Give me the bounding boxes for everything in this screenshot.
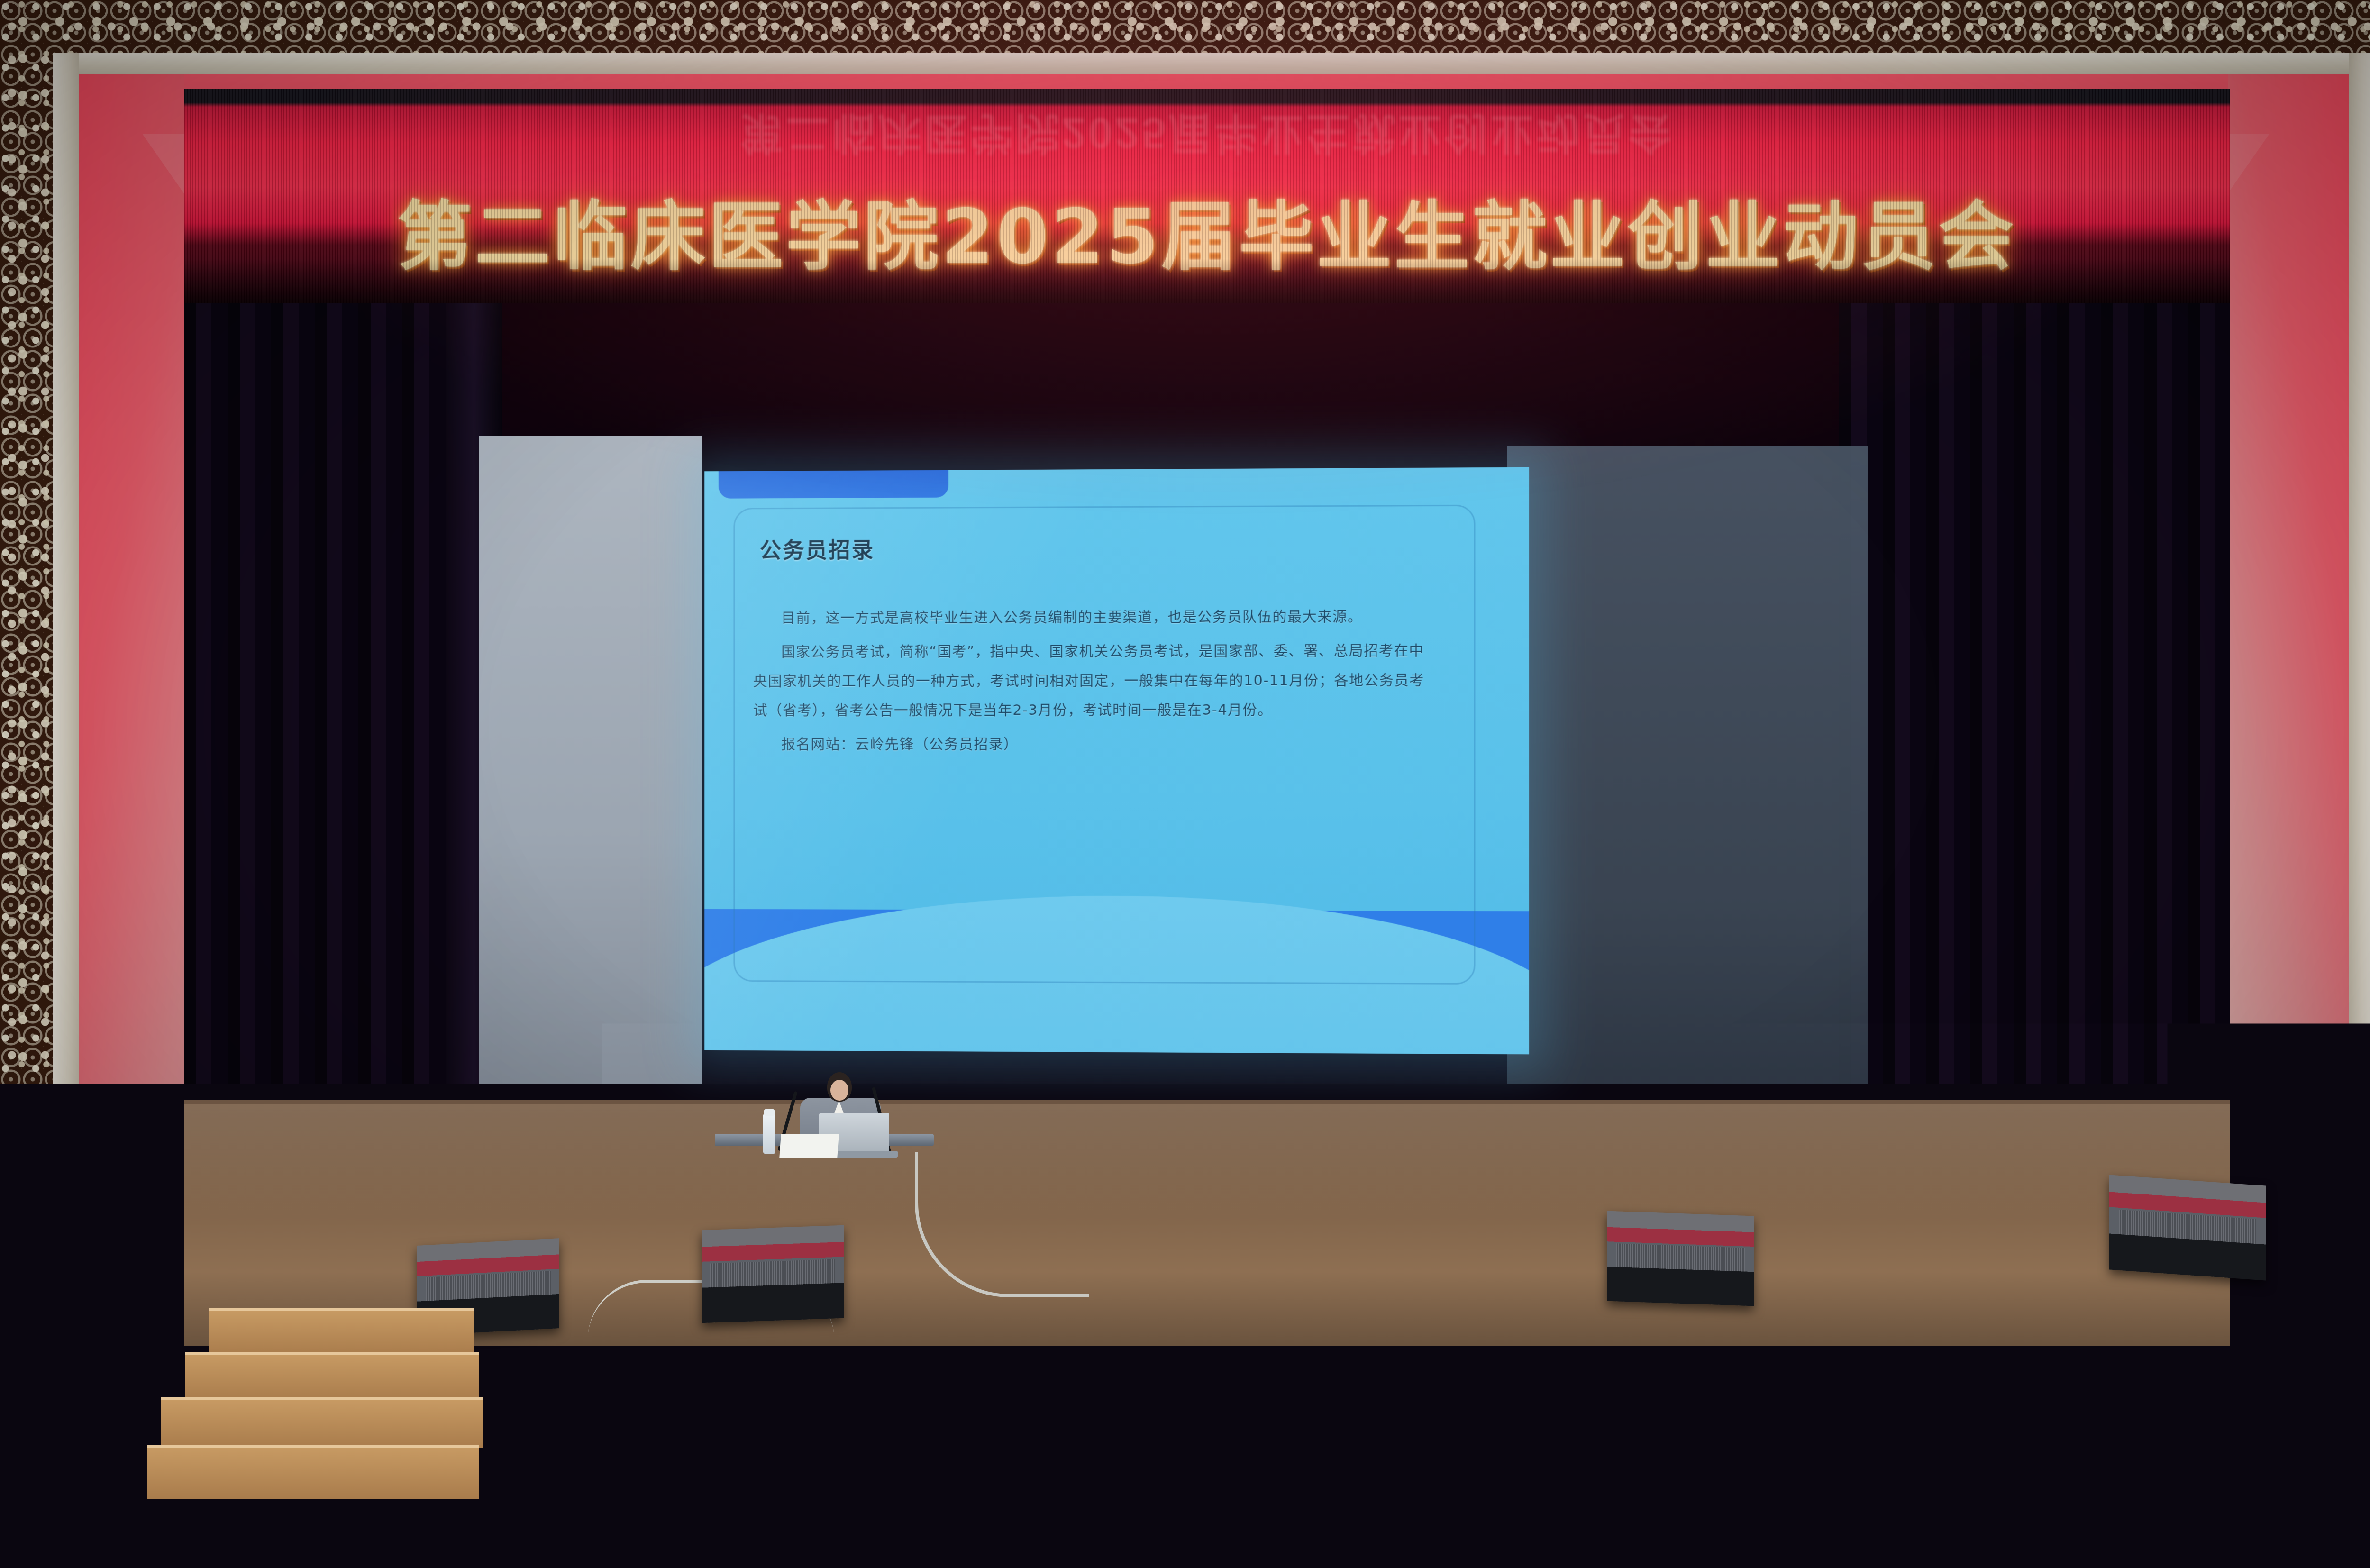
audience-person (594, 1428, 638, 1469)
audience-seat (2073, 1524, 2184, 1568)
stage-curtain-left (184, 303, 478, 1161)
audience-person (339, 1492, 390, 1540)
stage-monitor-3 (1607, 1211, 1754, 1306)
marble-trim-top (57, 53, 2370, 75)
slide-paragraph-1: 目前，这一方式是高校毕业生进入公务员编制的主要渠道，也是公务员队伍的最大来源。 (753, 602, 1425, 633)
audience-seat (1501, 1562, 1621, 1568)
monitor-grille-2 (710, 1259, 835, 1287)
audience-person (1397, 1492, 1448, 1540)
marble-trim-right (2349, 53, 2370, 1048)
audience-house (0, 1356, 2370, 1568)
audience-person (1524, 1459, 1571, 1504)
audience-seat (1603, 1524, 1714, 1568)
stage-curtain-right (1839, 303, 2230, 1161)
audience-person (1676, 1401, 1716, 1439)
slide-body: 目前，这一方式是高校毕业生进入公务员编制的主要渠道，也是公务员队伍的最大来源。 … (753, 602, 1425, 764)
slide-heading: 公务员招录 (760, 533, 875, 565)
audience-person (543, 1459, 590, 1504)
stage-floor-sheen (184, 1104, 2230, 1218)
audience-seat (230, 1562, 351, 1568)
presenter-face (830, 1080, 848, 1101)
slide-title-tab (719, 467, 948, 499)
audience-person (2048, 1401, 2088, 1439)
audience-person (2001, 1428, 2045, 1469)
audience-person (4, 1401, 44, 1439)
auditorium-stage-photo: 第二临床医学院2025届毕业生就业创业动员会 第二临床医学院2025届毕业生就业… (0, 0, 2370, 1568)
audience-person (221, 1492, 273, 1540)
audience-seat (1015, 1524, 1126, 1568)
audience-seat (2136, 1562, 2256, 1568)
audience-person (375, 1401, 416, 1439)
audience-seat (993, 1562, 1113, 1568)
audience-person (1097, 1428, 1140, 1469)
audience-person (695, 1428, 738, 1469)
audience-seat (1882, 1562, 2002, 1568)
audience-seat (357, 1562, 478, 1568)
audience-seat (738, 1562, 859, 1568)
audience-person (747, 1401, 787, 1439)
audience-person (979, 1459, 1026, 1504)
audience-person (0, 1459, 46, 1504)
proscenium-arch-right (2228, 74, 2349, 1050)
monitor-grille-3 (1616, 1244, 1745, 1272)
audience-seat (866, 1562, 986, 1568)
audience-seat (1628, 1562, 1748, 1568)
audience-seat (2191, 1524, 2302, 1568)
audience-person (1212, 1401, 1252, 1439)
arch-bevel-left (142, 134, 184, 193)
audience-seat (428, 1524, 538, 1568)
projection-screen: 公务员招录 目前，这一方式是高校毕业生进入公务员编制的主要渠道，也是公务员队伍的… (704, 467, 1529, 1055)
audience-seat (545, 1524, 656, 1568)
audience-person (809, 1492, 860, 1540)
audience-person (192, 1428, 236, 1469)
monitor-grille-1 (426, 1271, 551, 1301)
audience-seat (898, 1524, 1009, 1568)
audience-seat (2009, 1562, 2129, 1568)
monitor-grille-4 (2119, 1210, 2256, 1244)
water-bottle-cap (764, 1109, 775, 1116)
audience-person (840, 1401, 880, 1439)
papers-on-desk (779, 1134, 839, 1158)
apron-top-rail (308, 1322, 2365, 1329)
carved-lattice-top (0, 0, 2370, 57)
slide-paragraph-3: 报名网站：云岭先锋（公务员招录） (753, 730, 1425, 759)
marble-trim-left (53, 53, 79, 1568)
carved-lattice-left (0, 0, 57, 1568)
audience-person (1867, 1492, 1918, 1540)
audience-seat (1956, 1524, 2067, 1568)
audience-person (1599, 1428, 1643, 1469)
audience-seat (1486, 1524, 1596, 1568)
audience-seat (1374, 1562, 1494, 1568)
arch-bevel-right (2228, 134, 2270, 193)
water-bottle (763, 1113, 775, 1154)
audience-seat (484, 1562, 605, 1568)
stage-monitor-4 (2109, 1175, 2266, 1280)
audience-person (434, 1459, 481, 1504)
audience-person (1960, 1459, 2007, 1504)
backdrop-scrim-right (1507, 446, 1868, 1109)
led-banner-band: 第二临床医学院2025届毕业生就业创业动员会 第二临床医学院2025届毕业生就业… (184, 89, 2230, 312)
backdrop-scrim-left (479, 436, 702, 1109)
slide-paragraph-2: 国家公务员考试，简称“国考”，指中央、国家机关公务员考试，是国家部、委、署、总局… (753, 637, 1425, 726)
